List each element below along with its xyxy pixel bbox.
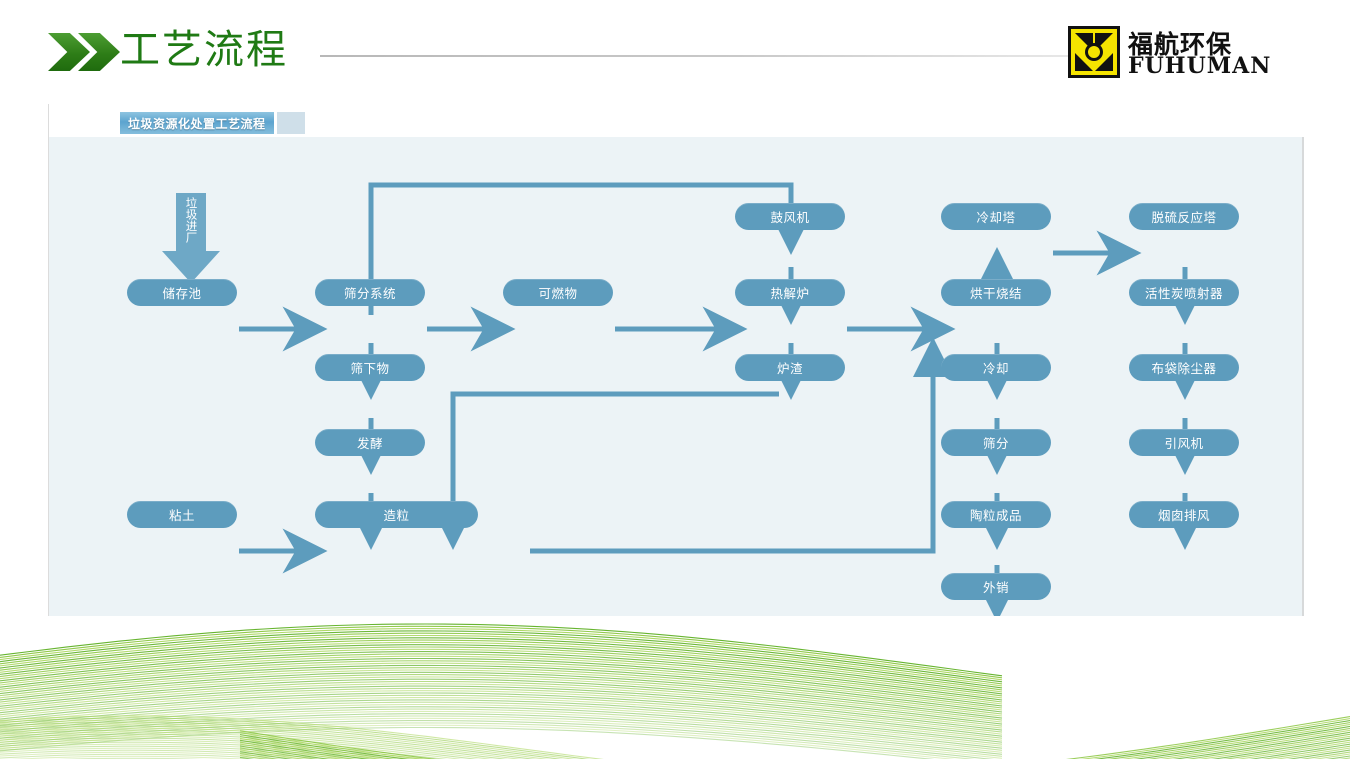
flow-node-blower[interactable]: 鼓风机 (735, 203, 845, 230)
flow-node-baghouse[interactable]: 布袋除尘器 (1129, 354, 1239, 381)
wave-svg (0, 600, 1350, 759)
flow-node-clay[interactable]: 粘土 (127, 501, 237, 528)
flow-node-label: 外销 (983, 577, 1009, 596)
flow-node-label: 热解炉 (770, 283, 809, 302)
flow-node-cooling[interactable]: 冷却 (941, 354, 1051, 381)
flow-node-label: 烟囱排风 (1158, 505, 1210, 524)
flow-node-label: 造粒 (383, 505, 409, 524)
flow-node-combustible[interactable]: 可燃物 (503, 279, 613, 306)
flow-node-label: 炉渣 (777, 358, 803, 377)
waste-inbound-text: 垃圾进厂 (185, 197, 198, 243)
title-underline (320, 55, 1080, 57)
flow-node-label: 储存池 (162, 283, 201, 302)
flow-node-label: 烘干烧结 (970, 283, 1022, 302)
flow-node-sieving[interactable]: 筛分 (941, 429, 1051, 456)
flow-node-label: 可燃物 (538, 283, 577, 302)
double-chevron-right-icon (48, 33, 120, 71)
logo-name-en: FUHUMAN (1128, 53, 1271, 79)
flow-node-label: 陶粒成品 (970, 505, 1022, 524)
flow-node-label: 活性炭喷射器 (1145, 283, 1223, 302)
page-header: 工艺流程 福航环保 FUHUMAN (0, 0, 1350, 100)
edge-slag-granulate (453, 394, 779, 530)
decorative-green-wave (0, 600, 1350, 759)
flow-node-product[interactable]: 陶粒成品 (941, 501, 1051, 528)
waste-inbound-label: 垃圾进厂 (162, 197, 220, 259)
flow-node-label: 脱硫反应塔 (1151, 207, 1216, 226)
flow-node-label: 布袋除尘器 (1151, 358, 1216, 377)
flow-node-carbon[interactable]: 活性炭喷射器 (1129, 279, 1239, 306)
flow-node-label: 鼓风机 (770, 207, 809, 226)
flow-node-label: 筛分系统 (344, 283, 396, 302)
flow-node-granulate[interactable]: 造粒 (315, 501, 478, 528)
flow-node-idfan[interactable]: 引风机 (1129, 429, 1239, 456)
flow-node-coolingtwr[interactable]: 冷却塔 (941, 203, 1051, 230)
flowchart-canvas: 垃圾进厂 储存池筛分系统可燃物热解炉鼓风机筛下物发酵粘土造粒炉渣烘干烧结冷却塔冷… (49, 137, 1302, 616)
flow-node-sales[interactable]: 外销 (941, 573, 1051, 600)
edge-granulate-sinter (530, 357, 933, 551)
flow-node-label: 发酵 (357, 433, 383, 452)
flow-node-label: 冷却 (983, 358, 1009, 377)
content-panel: 垃圾资源化处置工艺流程 (48, 104, 1304, 616)
flow-node-pyrolysis[interactable]: 热解炉 (735, 279, 845, 306)
flow-node-screening[interactable]: 筛分系统 (315, 279, 425, 306)
flow-node-ferment[interactable]: 发酵 (315, 429, 425, 456)
flow-node-label: 粘土 (169, 505, 195, 524)
flow-node-undersize[interactable]: 筛下物 (315, 354, 425, 381)
section-tag: 垃圾资源化处置工艺流程 (120, 112, 305, 134)
company-logo: 福航环保 FUHUMAN (1068, 26, 1268, 78)
section-tag-bar: 垃圾资源化处置工艺流程 (120, 112, 274, 134)
flow-node-stack[interactable]: 烟囱排风 (1129, 501, 1239, 528)
pinwheel-hub (1088, 46, 1100, 58)
flow-node-sinter[interactable]: 烘干烧结 (941, 279, 1051, 306)
flow-node-slag[interactable]: 炉渣 (735, 354, 845, 381)
flow-node-storage[interactable]: 储存池 (127, 279, 237, 306)
flow-node-label: 筛分 (983, 433, 1009, 452)
section-tag-label: 垃圾资源化处置工艺流程 (128, 115, 266, 132)
page-title: 工艺流程 (120, 24, 288, 76)
flow-node-desulfur[interactable]: 脱硫反应塔 (1129, 203, 1239, 230)
flow-node-label: 冷却塔 (976, 207, 1015, 226)
flow-node-label: 引风机 (1164, 433, 1203, 452)
flow-connectors (49, 137, 1302, 616)
section-tag-square (277, 112, 305, 134)
flow-node-label: 筛下物 (350, 358, 389, 377)
fuhuman-pinwheel-icon (1068, 26, 1120, 78)
chevron-1 (48, 33, 90, 71)
panel-right-edge (1302, 137, 1304, 616)
